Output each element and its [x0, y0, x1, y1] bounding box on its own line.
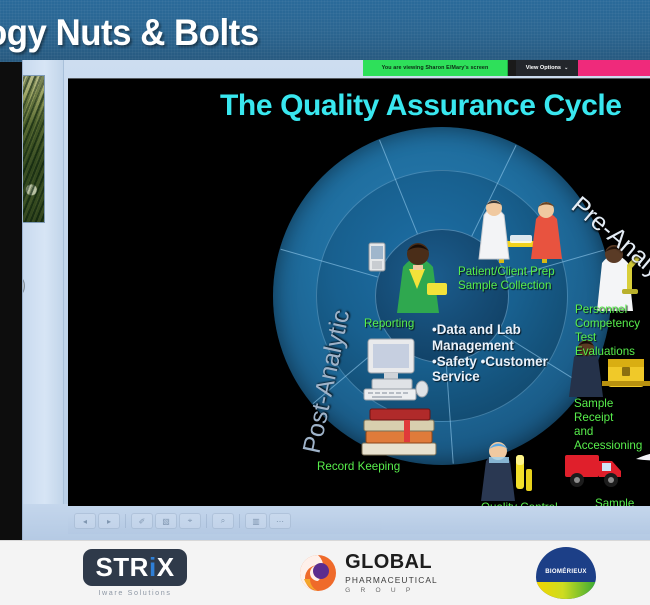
next-slide-button[interactable]: ▸ [98, 513, 120, 529]
desktop-computer-illustration [358, 337, 430, 405]
more-tools-button[interactable]: ⋯ [269, 513, 291, 529]
screen-share-bar: You are viewing Sharon E/Mary's screen V… [363, 60, 650, 76]
chevron-down-icon: ⌄ [564, 65, 568, 71]
layout-button[interactable]: ▥ [245, 513, 267, 529]
step-label-sample-transport: Sample Transport [595, 497, 650, 506]
step-label-personnel: Personnel Competency Test Evaluations [575, 303, 650, 360]
strix-text-i: i [149, 552, 157, 583]
screenshot-root: ogy Nuts & Bolts You are viewing Sharon … [0, 0, 650, 605]
prev-slide-button[interactable]: ◂ [74, 513, 96, 529]
pen-tool-button[interactable]: ✐ [131, 513, 153, 529]
step-label-reporting: Reporting [364, 317, 414, 331]
webinar-viewer: You are viewing Sharon E/Mary's screen V… [22, 60, 650, 540]
global-logo-line-3: G R O U P [345, 587, 438, 594]
pointer-tool-button[interactable]: ⌖ [179, 513, 201, 529]
global-logo-line-1: GLOBAL [345, 552, 438, 572]
presentation-slide: The Quality Assurance Cycle •Data and La… [68, 78, 650, 506]
lab-worker-reporting-illustration [393, 239, 451, 313]
strix-tagline: Iware Solutions [83, 588, 186, 597]
toolbar-divider [206, 514, 207, 528]
global-swirl-icon [298, 553, 338, 593]
view-options-label: View Options [526, 65, 561, 71]
biomerieux-gradient-band [536, 582, 596, 599]
sponsor-logo-a-soft[interactable]: A Sof [646, 544, 650, 602]
global-logo-line-2: PHARMACEUTICAL [345, 575, 438, 585]
webcam-thumbnail[interactable] [22, 75, 45, 223]
step-label-patient-prep: Patient/Client Prep Sample Collection [458, 265, 555, 293]
biomerieux-mark: BIOMÉRIEUX [536, 547, 596, 599]
slide-toolbar: ◂ ▸ ✐ ▧ ⌖ ⌕ ▥ ⋯ [68, 508, 650, 534]
page-title: ogy Nuts & Bolts [0, 12, 259, 54]
sponsor-logo-strix[interactable]: STR i X Iware Solutions [60, 544, 210, 602]
slide-title: The Quality Assurance Cycle [220, 89, 622, 123]
toolbar-divider [125, 514, 126, 528]
mobile-phone-icon [367, 242, 387, 272]
quality-control-testing-illustration [474, 439, 540, 501]
screen-share-notice: You are viewing Sharon E/Mary's screen [363, 60, 508, 76]
sponsor-logo-strip: STR i X Iware Solutions GLOBAL PHARMACEU… [0, 540, 650, 605]
highlighter-button[interactable]: ▧ [155, 513, 177, 529]
strix-text-str: STR [95, 552, 149, 583]
cycle-center-text: •Data and Lab Management •Safety •Custom… [432, 322, 548, 385]
record-books-illustration [358, 403, 440, 459]
toolbar-divider [239, 514, 240, 528]
step-label-sample-receipt: Sample Receipt and Accessioning [574, 397, 650, 454]
page-header: ogy Nuts & Bolts [0, 0, 650, 62]
strix-wordmark: STR i X [83, 549, 186, 586]
step-label-record-keeping: Record Keeping [317, 460, 400, 474]
sponsor-logo-global-pharmaceutical[interactable]: GLOBAL PHARMACEUTICAL G R O U P [278, 544, 458, 602]
step-label-quality-control: Quality Control Testing [481, 501, 558, 506]
lab-technician-patient-illustration [466, 197, 576, 263]
sponsor-logo-biomerieux[interactable]: BIOMÉRIEUX [506, 544, 626, 602]
share-bar-gap [508, 60, 516, 76]
strix-text-x: X [157, 552, 175, 583]
biomerieux-label: BIOMÉRIEUX [545, 568, 587, 575]
share-bar-accent [578, 60, 650, 76]
view-options-button[interactable]: View Options ⌄ [516, 60, 578, 76]
zoom-tool-button[interactable]: ⌕ [212, 513, 234, 529]
